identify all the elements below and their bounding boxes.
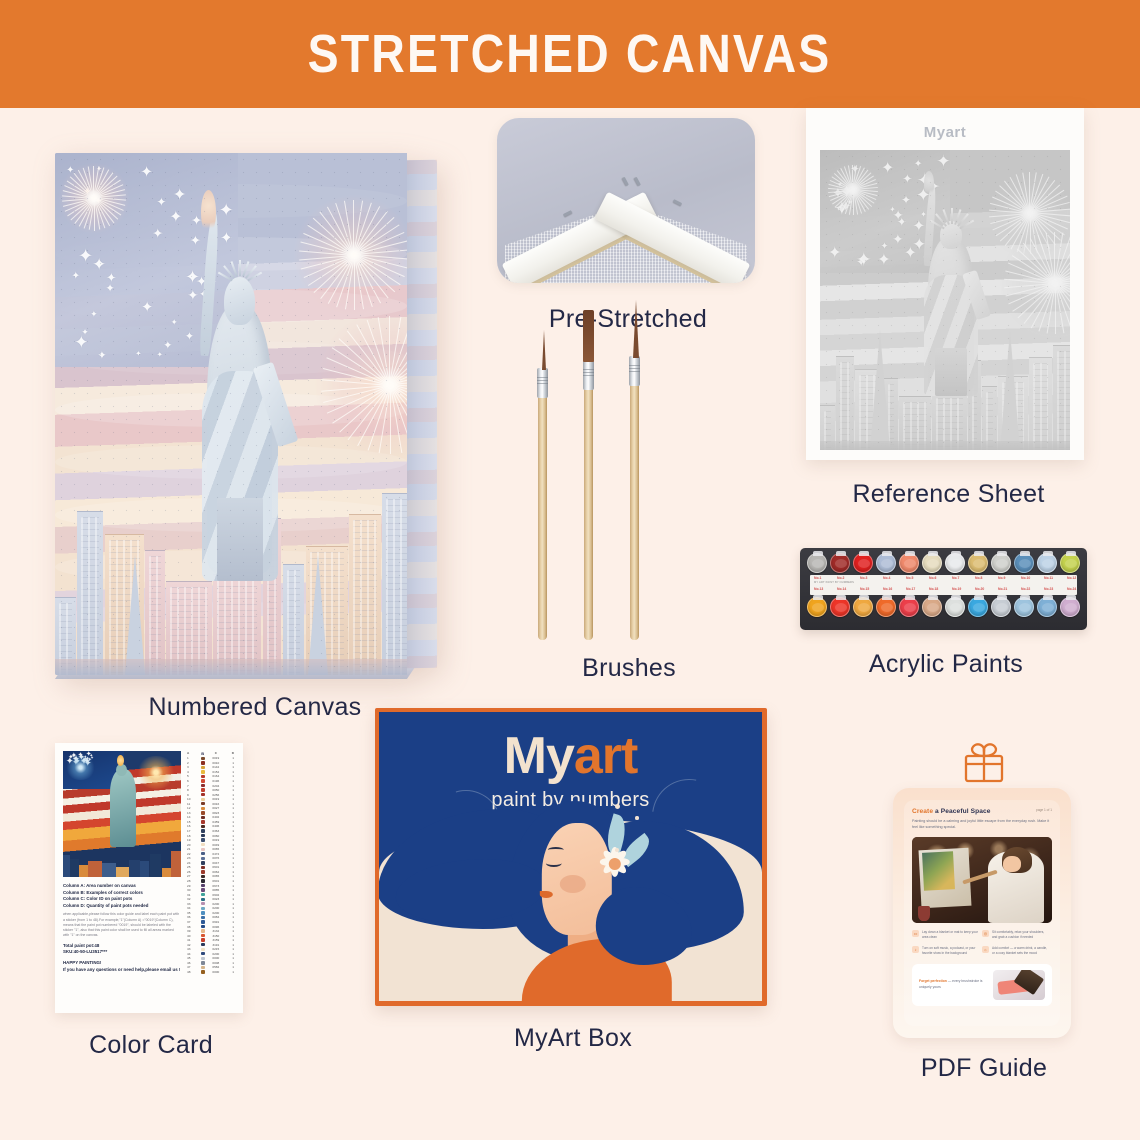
- guide-title-rest: a Peaceful Space: [933, 808, 990, 815]
- lips: [539, 891, 552, 898]
- item-pre-stretched: Pre-Stretched: [497, 118, 759, 334]
- area-number: 22: [187, 852, 197, 856]
- area-number: 32: [187, 897, 197, 901]
- pot-quantity: 1: [227, 879, 234, 883]
- color-id: 3159: [208, 938, 223, 942]
- pot-quantity: 1: [227, 929, 234, 933]
- paint-number-label: No.3: [860, 576, 867, 580]
- area-number: 46: [187, 961, 197, 965]
- area-number: 33: [187, 902, 197, 906]
- color-id: 0902: [208, 893, 223, 897]
- paint-brush: [630, 340, 644, 640]
- legend-line: Column D: Quantity of paint pots needed: [63, 903, 181, 910]
- brush-set: [500, 340, 758, 640]
- paint-pot[interactable]: [922, 597, 942, 617]
- pot-quantity: 1: [227, 911, 234, 915]
- pot-quantity: 1: [227, 806, 234, 810]
- color-id: 0200: [208, 902, 223, 906]
- area-number: 24: [187, 861, 197, 865]
- paint-pot[interactable]: [1060, 597, 1080, 617]
- paint-number-label: No.7: [952, 576, 959, 580]
- legend-line: Column B: Examples of correct colors: [63, 890, 181, 897]
- pot-quantity: 1: [227, 802, 234, 806]
- paint-pot[interactable]: [899, 553, 919, 573]
- pot-quantity: 1: [227, 824, 234, 828]
- color-swatch: [201, 888, 205, 891]
- tip-icon: ◎: [982, 930, 989, 937]
- color-swatch: [201, 866, 205, 869]
- area-number: 31: [187, 893, 197, 897]
- paint-number-label: No.16: [883, 587, 892, 591]
- area-number: 35: [187, 911, 197, 915]
- reference-sheet-paper: Myart ✦✦✦✦✦✦✦✦✦✦✦✦✦✦✦✦✦✦✦✦✦✦✦✦✦✦✦✦✦✦: [806, 108, 1084, 460]
- pot-quantity: 1: [227, 870, 234, 874]
- staple-icon: [622, 177, 629, 186]
- paint-number-label: No.18: [929, 587, 938, 591]
- box-front-face: Myart paint by numbers: [379, 712, 762, 1001]
- color-swatch: [201, 870, 205, 873]
- brush-bristles: [583, 310, 594, 362]
- color-id: 0084: [208, 915, 223, 919]
- pot-quantity: 1: [227, 961, 234, 965]
- color-id: 0027: [208, 806, 223, 810]
- color-id: 0096: [208, 925, 223, 929]
- color-id: 0047: [208, 861, 223, 865]
- color-swatch: [201, 852, 205, 855]
- color-card-sheet: ✦✦✦✦✦✦✦✦✦✦✦✦✦✦✦✦✦✦✦✦✦✦ Column A: Area nu…: [55, 743, 243, 1013]
- caption-reference-sheet: Reference Sheet: [806, 480, 1091, 509]
- color-swatch: [201, 848, 205, 851]
- callout-image: [993, 970, 1045, 1000]
- area-number: 3: [187, 765, 197, 769]
- color-table-header: A B C D: [186, 751, 235, 756]
- area-number: 19: [187, 838, 197, 842]
- area-number: 20: [187, 843, 197, 847]
- paint-pot[interactable]: [968, 597, 988, 617]
- page-title: STRETCHED CANVAS: [308, 23, 832, 85]
- color-card-legend: Column A: Area number on canvas Column B…: [63, 883, 181, 973]
- area-number: 8: [187, 788, 197, 792]
- area-number: 27: [187, 874, 197, 878]
- canvas-wrapped-edge: [407, 160, 437, 669]
- callout-text: Forget perfection — every brushstroke is…: [919, 979, 987, 990]
- caption-pdf-guide: PDF Guide: [893, 1054, 1075, 1083]
- area-number: 36: [187, 915, 197, 919]
- color-id: 0200: [208, 952, 223, 956]
- pot-quantity: 1: [227, 920, 234, 924]
- color-id: 3191: [208, 943, 223, 947]
- color-swatch: [201, 788, 205, 791]
- page-number-label: page 1 of 1: [1036, 808, 1052, 812]
- color-swatch: [201, 948, 205, 951]
- pot-quantity: 1: [227, 829, 234, 833]
- color-swatch: [201, 802, 205, 805]
- pot-quantity: 1: [227, 770, 234, 774]
- pot-quantity: 1: [227, 893, 234, 897]
- area-number: 14: [187, 815, 197, 819]
- guide-tip: ◎Sit comfortably, relax your shoulders, …: [982, 930, 1052, 940]
- item-brushes: Brushes: [500, 340, 758, 683]
- caption-brushes: Brushes: [500, 654, 758, 683]
- paint-number-label: No.14: [837, 587, 846, 591]
- paint-pot[interactable]: [807, 553, 827, 573]
- area-number: 45: [187, 956, 197, 960]
- color-id: 0402: [208, 815, 223, 819]
- happy-painting-label: HAPPY PAINTING!: [63, 960, 181, 967]
- tip-icon: ♪: [912, 946, 919, 953]
- paint-pot[interactable]: [1060, 553, 1080, 573]
- pot-quantity: 1: [227, 938, 234, 942]
- color-id: 0256: [208, 793, 223, 797]
- paint-pot[interactable]: [853, 597, 873, 617]
- color-id: 0459: [208, 820, 223, 824]
- color-id: 0019: [208, 797, 223, 801]
- color-id: 0000: [208, 956, 223, 960]
- paint-pot[interactable]: [1037, 597, 1057, 617]
- color-swatch: [201, 957, 205, 960]
- tip-icon: ☼: [982, 946, 989, 953]
- color-swatch: [201, 829, 205, 832]
- paint-tray: MY ART PAINT BY NUMBERS No.1No.13No.2No.…: [800, 548, 1087, 630]
- color-id: 0049: [208, 843, 223, 847]
- pot-quantity: 1: [227, 838, 234, 842]
- color-id: 0065: [208, 874, 223, 878]
- color-id: 0023: [208, 897, 223, 901]
- tip-text: Sit comfortably, relax your shoulders, a…: [992, 930, 1048, 940]
- guide-photo: [912, 837, 1052, 923]
- brush-ferrule: [537, 368, 548, 398]
- color-id: 0601: [208, 865, 223, 869]
- callout-bold: Forget perfection: [919, 979, 947, 983]
- item-color-card: ✦✦✦✦✦✦✦✦✦✦✦✦✦✦✦✦✦✦✦✦✦✦ Column A: Area nu…: [55, 743, 247, 1060]
- color-id: 0065: [208, 847, 223, 851]
- area-number: 11: [187, 802, 197, 806]
- paint-number-label: No.17: [906, 587, 915, 591]
- paint-brush: [538, 340, 552, 640]
- tip-text: Lay down a blanket or mat to keep your a…: [922, 930, 978, 940]
- area-number: 26: [187, 870, 197, 874]
- pot-quantity: 1: [227, 970, 234, 974]
- myart-box-package: Myart paint by numbers: [375, 708, 767, 1006]
- color-swatch: [201, 761, 205, 764]
- color-swatch: [201, 843, 205, 846]
- item-pdf-guide: page 1 of 1 Create a Peaceful Space Pain…: [893, 740, 1075, 1083]
- color-swatch: [201, 820, 205, 823]
- area-number: 6: [187, 779, 197, 783]
- paint-number-label: No.11: [1044, 576, 1053, 580]
- paint-pot[interactable]: [899, 597, 919, 617]
- color-swatch: [201, 907, 205, 910]
- color-swatch: [201, 784, 205, 787]
- paint-number-label: No.23: [1044, 587, 1053, 591]
- area-number: 48: [187, 970, 197, 974]
- reference-sheet-logo: Myart: [820, 124, 1070, 141]
- paint-label-strip: MY ART PAINT BY NUMBERS No.1No.13No.2No.…: [810, 575, 1077, 595]
- paint-number-label: No.12: [1067, 576, 1076, 580]
- color-id: 0010: [208, 761, 223, 765]
- caption-color-card: Color Card: [55, 1031, 247, 1060]
- guide-tip: ▭Lay down a blanket or mat to keep your …: [912, 930, 982, 940]
- pot-quantity: 1: [227, 797, 234, 801]
- area-number: 7: [187, 784, 197, 788]
- woman-illustration: [455, 801, 695, 1001]
- color-id: 0582: [208, 965, 223, 969]
- area-number: 44: [187, 952, 197, 956]
- area-number: 30: [187, 888, 197, 892]
- color-id: 0000: [208, 970, 223, 974]
- guide-tips-list: ▭Lay down a blanket or mat to keep your …: [912, 930, 1052, 962]
- paint-pot[interactable]: [968, 553, 988, 573]
- color-swatch: [201, 875, 205, 878]
- item-myart-box: Myart paint by numbers: [375, 708, 771, 1053]
- sku-label: SKU:40-50-LU3517***: [63, 949, 181, 956]
- color-id: 0673: [208, 884, 223, 888]
- area-number: 2: [187, 761, 197, 765]
- color-id: 0016: [208, 802, 223, 806]
- color-id: 0885: [208, 888, 223, 892]
- color-id: 0200: [208, 906, 223, 910]
- paint-label-text: MY ART PAINT BY NUMBERS: [814, 581, 854, 584]
- color-swatch: [201, 952, 205, 955]
- paint-pot[interactable]: [853, 553, 873, 573]
- color-swatch: [201, 916, 205, 919]
- paint-brush: [584, 340, 598, 640]
- pot-quantity: 1: [227, 934, 234, 938]
- pot-quantity: 1: [227, 852, 234, 856]
- color-card-artwork: ✦✦✦✦✦✦✦✦✦✦✦✦✦✦✦✦✦✦✦✦✦✦: [63, 751, 181, 877]
- cheek-blush: [559, 875, 585, 893]
- paint-pot[interactable]: [876, 597, 896, 617]
- color-swatch: [201, 893, 205, 896]
- brush-ferrule: [629, 356, 640, 386]
- area-number: 42: [187, 943, 197, 947]
- color-id: 0823: [208, 811, 223, 815]
- area-number: 21: [187, 847, 197, 851]
- paint-number-label: No.8: [975, 576, 982, 580]
- color-swatch: [201, 902, 205, 905]
- pot-quantity: 1: [227, 761, 234, 765]
- color-id: 0152: [208, 770, 223, 774]
- pot-quantity: 1: [227, 756, 234, 760]
- color-swatch: [201, 898, 205, 901]
- area-number: 4: [187, 770, 197, 774]
- tip-icon: ▭: [912, 930, 919, 937]
- item-acrylic-paints: MY ART PAINT BY NUMBERS No.1No.13No.2No.…: [800, 548, 1092, 679]
- paint-pot[interactable]: [876, 553, 896, 573]
- color-id: 0215: [208, 947, 223, 951]
- area-number: 5: [187, 774, 197, 778]
- pot-quantity: 1: [227, 811, 234, 815]
- brush-handle: [630, 378, 639, 640]
- col-a-header: A: [187, 751, 197, 756]
- staple-icon: [634, 177, 641, 186]
- color-swatch: [201, 834, 205, 837]
- page-header: STRETCHED CANVAS: [0, 0, 1140, 108]
- canvas-3d-mockup: ✦✦✦✦✦✦✦✦✦✦✦✦✦✦✦✦✦✦✦✦✦✦✦✦✦✦✦✦✦✦✦✦✦✦: [55, 153, 440, 675]
- col-b-header: B: [201, 751, 205, 756]
- color-swatch: [201, 857, 205, 860]
- color-swatch: [201, 934, 205, 937]
- pot-quantity: 1: [227, 793, 234, 797]
- color-card-table: A B C D 10019120010130142140152150164160…: [186, 751, 235, 1005]
- area-number: 34: [187, 906, 197, 910]
- closed-eye: [545, 859, 561, 867]
- pot-quantity: 1: [227, 925, 234, 929]
- pot-quantity: 1: [227, 856, 234, 860]
- color-swatch: [201, 757, 205, 760]
- color-id: 0406: [208, 824, 223, 828]
- pot-quantity: 1: [227, 952, 234, 956]
- paint-number-label: No.13: [814, 587, 823, 591]
- guide-title-highlight: Create: [912, 808, 933, 815]
- color-swatch: [201, 861, 205, 864]
- color-id: 0472: [208, 852, 223, 856]
- color-swatch: [201, 807, 205, 810]
- logo-text-my: My: [504, 727, 574, 785]
- pot-quantity: 1: [227, 915, 234, 919]
- pot-quantity: 1: [227, 774, 234, 778]
- color-swatch: [201, 961, 205, 964]
- paint-pot[interactable]: [807, 597, 827, 617]
- paint-number-label: No.20: [975, 587, 984, 591]
- paint-number-label: No.22: [1021, 587, 1030, 591]
- pot-quantity: 1: [227, 902, 234, 906]
- box-logo: Myart: [379, 712, 762, 782]
- color-swatch: [201, 793, 205, 796]
- area-number: 39: [187, 929, 197, 933]
- eyebrow: [547, 847, 563, 853]
- guide-title: Create a Peaceful Space: [912, 808, 1052, 815]
- legend-note: when applicable,please follow this color…: [63, 912, 181, 938]
- paint-number-label: No.2: [837, 576, 844, 580]
- area-number: 10: [187, 797, 197, 801]
- brush-bristles: [542, 330, 546, 370]
- pot-quantity: 1: [227, 847, 234, 851]
- paint-pot[interactable]: [830, 553, 850, 573]
- pot-quantity: 1: [227, 815, 234, 819]
- color-id: 0142: [208, 765, 223, 769]
- guide-tip: ☼Add comfort — a warm drink, a candle, o…: [982, 946, 1052, 956]
- area-number: 25: [187, 865, 197, 869]
- paint-number-label: No.15: [860, 587, 869, 591]
- legend-line: Column C: Color ID on paint pots: [63, 896, 181, 903]
- item-reference-sheet: Myart ✦✦✦✦✦✦✦✦✦✦✦✦✦✦✦✦✦✦✦✦✦✦✦✦✦✦✦✦✦✦: [806, 108, 1091, 509]
- caption-acrylic-paints: Acrylic Paints: [800, 650, 1092, 679]
- col-d-header: D: [227, 751, 234, 756]
- pot-quantity: 1: [227, 765, 234, 769]
- color-id: 0060: [208, 834, 223, 838]
- paint-pot[interactable]: [1037, 553, 1057, 573]
- paint-number-label: No.19: [952, 587, 961, 591]
- color-swatch: [201, 798, 205, 801]
- pot-quantity: 1: [227, 888, 234, 892]
- tip-text: Add comfort — a warm drink, a candle, or…: [992, 946, 1048, 956]
- gift-icon: [893, 740, 1075, 784]
- paint-pot[interactable]: [830, 597, 850, 617]
- color-id: 0601: [208, 879, 223, 883]
- paint-number-label: No.6: [929, 576, 936, 580]
- pot-quantity: 1: [227, 843, 234, 847]
- color-swatch: [201, 925, 205, 928]
- pot-quantity: 1: [227, 943, 234, 947]
- brush-bristles: [633, 300, 639, 358]
- pot-quantity: 1: [227, 788, 234, 792]
- pot-quantity: 1: [227, 897, 234, 901]
- color-swatch: [201, 943, 205, 946]
- paint-number-label: No.4: [883, 576, 890, 580]
- pot-quantity: 1: [227, 779, 234, 783]
- brush-ferrule: [583, 360, 594, 390]
- color-swatch: [201, 879, 205, 882]
- logo-text-art: art: [574, 727, 637, 785]
- paint-pot[interactable]: [945, 553, 965, 573]
- paint-number-label: No.5: [906, 576, 913, 580]
- color-card-left-column: ✦✦✦✦✦✦✦✦✦✦✦✦✦✦✦✦✦✦✦✦✦✦ Column A: Area nu…: [63, 751, 181, 1005]
- pot-quantity: 1: [227, 861, 234, 865]
- area-number: 38: [187, 925, 197, 929]
- pot-quantity: 1: [227, 906, 234, 910]
- paint-pot[interactable]: [991, 553, 1011, 573]
- pot-quantity: 1: [227, 947, 234, 951]
- color-swatch: [201, 779, 205, 782]
- area-number: 12: [187, 806, 197, 810]
- legend-line: Column A: Area number on canvas: [63, 883, 181, 890]
- color-swatch: [201, 811, 205, 814]
- color-id: 0050: [208, 788, 223, 792]
- area-number: 43: [187, 947, 197, 951]
- color-id: 0196: [208, 779, 223, 783]
- col-c-header: C: [208, 751, 223, 756]
- color-swatch: [201, 816, 205, 819]
- paint-pot[interactable]: [1014, 597, 1034, 617]
- color-id: 0076: [208, 856, 223, 860]
- color-swatch: [201, 929, 205, 932]
- area-number: 23: [187, 856, 197, 860]
- color-id: 0164: [208, 774, 223, 778]
- color-swatch: [201, 775, 205, 778]
- color-swatch: [201, 838, 205, 841]
- item-numbered-canvas: ✦✦✦✦✦✦✦✦✦✦✦✦✦✦✦✦✦✦✦✦✦✦✦✦✦✦✦✦✦✦✦✦✦✦: [55, 153, 455, 722]
- guide-callout: Forget perfection — every brushstroke is…: [912, 964, 1052, 1006]
- area-number: 47: [187, 965, 197, 969]
- tip-text: Turn on soft music, a podcast, or your f…: [922, 946, 978, 956]
- area-number: 15: [187, 820, 197, 824]
- paint-pot[interactable]: [922, 553, 942, 573]
- color-id: 0019: [208, 756, 223, 760]
- paint-number-label: No.21: [998, 587, 1007, 591]
- pot-quantity: 1: [227, 956, 234, 960]
- area-number: 1: [187, 756, 197, 760]
- color-id: 3132: [208, 929, 223, 933]
- color-id: 3150: [208, 934, 223, 938]
- color-swatch: [201, 770, 205, 773]
- area-number: 9: [187, 793, 197, 797]
- paint-pot[interactable]: [991, 597, 1011, 617]
- color-swatch: [201, 966, 205, 969]
- paint-number-label: No.9: [998, 576, 1005, 580]
- paint-pot-row-top: [804, 553, 1083, 573]
- area-number: 16: [187, 824, 197, 828]
- paint-pot[interactable]: [945, 597, 965, 617]
- area-number: 17: [187, 829, 197, 833]
- color-table-rows: 1001912001013014214015215016416019617020…: [186, 756, 235, 974]
- pot-quantity: 1: [227, 874, 234, 878]
- pot-quantity: 1: [227, 820, 234, 824]
- paint-pot[interactable]: [1014, 553, 1034, 573]
- area-number: 29: [187, 884, 197, 888]
- canvas-artwork-face: ✦✦✦✦✦✦✦✦✦✦✦✦✦✦✦✦✦✦✦✦✦✦✦✦✦✦✦✦✦✦✦✦✦✦: [55, 153, 407, 675]
- caption-myart-box: MyArt Box: [375, 1024, 771, 1053]
